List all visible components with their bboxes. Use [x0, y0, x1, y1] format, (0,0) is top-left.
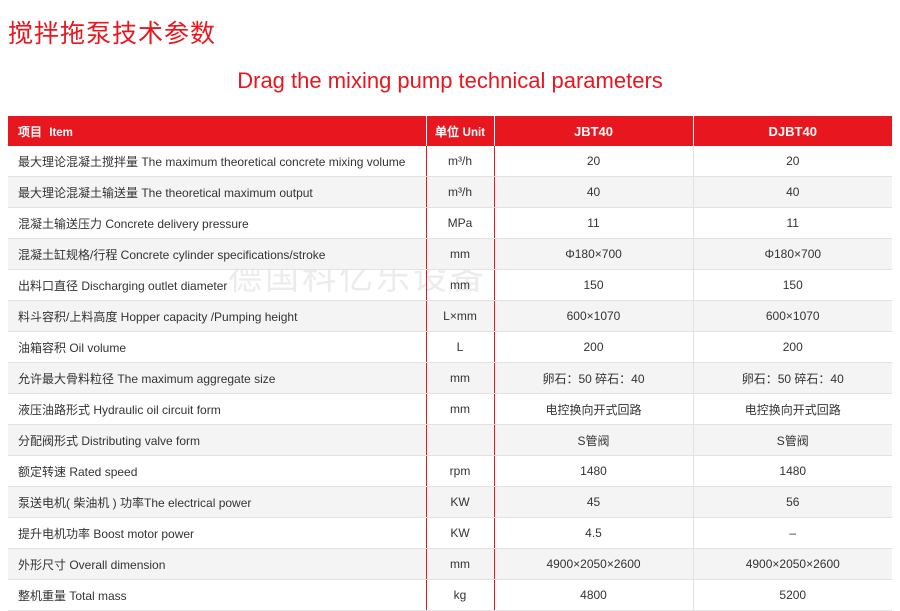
table-row: 料斗容积/上料高度 Hopper capacity /Pumping heigh…	[8, 301, 892, 332]
column-header-item: 项目 Item	[8, 116, 426, 146]
page-title-english: Drag the mixing pump technical parameter…	[0, 68, 900, 94]
row-item-label: 液压油路形式 Hydraulic oil circuit form	[8, 394, 426, 425]
row-unit: mm	[426, 394, 494, 425]
row-value-jbt40: 600×1070	[494, 301, 693, 332]
table-row: 混凝土输送压力 Concrete delivery pressure MPa 1…	[8, 208, 892, 239]
row-value-jbt40: S管阀	[494, 425, 693, 456]
row-unit: mm	[426, 363, 494, 394]
column-header-djbt40: DJBT40	[693, 116, 892, 146]
row-value-djbt40: 11	[693, 208, 892, 239]
table-row: 提升电机功率 Boost motor power KW 4.5 –	[8, 518, 892, 549]
row-unit: L	[426, 332, 494, 363]
row-value-djbt40: 40	[693, 177, 892, 208]
specifications-table: 项目 Item 单位 Unit JBT40 DJBT40 最大理论混凝土搅拌量 …	[8, 116, 892, 611]
row-value-jbt40: 11	[494, 208, 693, 239]
row-value-jbt40: 4900×2050×2600	[494, 549, 693, 580]
table-row: 最大理论混凝土搅拌量 The maximum theoretical concr…	[8, 146, 892, 177]
row-item-label: 泵送电机( 柴油机 ) 功率The electrical power	[8, 487, 426, 518]
row-value-djbt40: 卵石：50 碎石：40	[693, 363, 892, 394]
column-header-unit-en: Unit	[463, 127, 485, 139]
row-value-djbt40: 20	[693, 146, 892, 177]
row-value-djbt40: 56	[693, 487, 892, 518]
row-item-label: 额定转速 Rated speed	[8, 456, 426, 487]
row-value-jbt40: 45	[494, 487, 693, 518]
row-item-label: 外形尺寸 Overall dimension	[8, 549, 426, 580]
page-title-chinese: 搅拌拖泵技术参数	[8, 14, 216, 50]
column-header-item-cn: 项目	[18, 125, 42, 139]
row-value-djbt40: S管阀	[693, 425, 892, 456]
table-row: 分配阀形式 Distributing valve form S管阀 S管阀	[8, 425, 892, 456]
column-header-unit: 单位 Unit	[426, 116, 494, 146]
column-header-item-en: Item	[49, 127, 73, 139]
row-unit: KW	[426, 487, 494, 518]
row-item-label: 提升电机功率 Boost motor power	[8, 518, 426, 549]
row-value-jbt40: 150	[494, 270, 693, 301]
row-unit: mm	[426, 239, 494, 270]
table-row: 允许最大骨料粒径 The maximum aggregate size mm 卵…	[8, 363, 892, 394]
row-value-djbt40: 600×1070	[693, 301, 892, 332]
row-unit: KW	[426, 518, 494, 549]
row-item-label: 油箱容积 Oil volume	[8, 332, 426, 363]
row-item-label: 允许最大骨料粒径 The maximum aggregate size	[8, 363, 426, 394]
row-unit: mm	[426, 549, 494, 580]
row-item-label: 混凝土缸规格/行程 Concrete cylinder specificatio…	[8, 239, 426, 270]
table-row: 液压油路形式 Hydraulic oil circuit form mm 电控换…	[8, 394, 892, 425]
row-value-jbt40: 1480	[494, 456, 693, 487]
row-value-djbt40: –	[693, 518, 892, 549]
row-value-jbt40: 4.5	[494, 518, 693, 549]
row-value-jbt40: 4800	[494, 580, 693, 611]
row-unit: m³/h	[426, 177, 494, 208]
row-value-djbt40: 电控换向开式回路	[693, 394, 892, 425]
row-item-label: 最大理论混凝土输送量 The theoretical maximum outpu…	[8, 177, 426, 208]
row-item-label: 最大理论混凝土搅拌量 The maximum theoretical concr…	[8, 146, 426, 177]
column-header-jbt40: JBT40	[494, 116, 693, 146]
row-item-label: 整机重量 Total mass	[8, 580, 426, 611]
row-item-label: 出料口直径 Discharging outlet diameter	[8, 270, 426, 301]
column-header-unit-cn: 单位	[435, 125, 459, 139]
row-value-jbt40: 40	[494, 177, 693, 208]
row-value-djbt40: 150	[693, 270, 892, 301]
row-value-jbt40: 20	[494, 146, 693, 177]
table-header: 项目 Item 单位 Unit JBT40 DJBT40	[8, 116, 892, 146]
row-item-label: 混凝土输送压力 Concrete delivery pressure	[8, 208, 426, 239]
row-unit: rpm	[426, 456, 494, 487]
row-item-label: 分配阀形式 Distributing valve form	[8, 425, 426, 456]
table-row: 整机重量 Total mass kg 4800 5200	[8, 580, 892, 611]
row-value-jbt40: 电控换向开式回路	[494, 394, 693, 425]
table-row: 额定转速 Rated speed rpm 1480 1480	[8, 456, 892, 487]
row-unit: kg	[426, 580, 494, 611]
row-item-label: 料斗容积/上料高度 Hopper capacity /Pumping heigh…	[8, 301, 426, 332]
row-unit: L×mm	[426, 301, 494, 332]
table-row: 泵送电机( 柴油机 ) 功率The electrical power KW 45…	[8, 487, 892, 518]
row-value-djbt40: 4900×2050×2600	[693, 549, 892, 580]
row-unit: MPa	[426, 208, 494, 239]
row-value-jbt40: 卵石：50 碎石：40	[494, 363, 693, 394]
row-value-djbt40: Φ180×700	[693, 239, 892, 270]
row-value-djbt40: 1480	[693, 456, 892, 487]
table-row: 混凝土缸规格/行程 Concrete cylinder specificatio…	[8, 239, 892, 270]
row-value-djbt40: 5200	[693, 580, 892, 611]
table-row: 油箱容积 Oil volume L 200 200	[8, 332, 892, 363]
row-value-jbt40: Φ180×700	[494, 239, 693, 270]
row-unit: m³/h	[426, 146, 494, 177]
table-row: 最大理论混凝土输送量 The theoretical maximum outpu…	[8, 177, 892, 208]
row-unit: mm	[426, 270, 494, 301]
table-row: 出料口直径 Discharging outlet diameter mm 150…	[8, 270, 892, 301]
table-row: 外形尺寸 Overall dimension mm 4900×2050×2600…	[8, 549, 892, 580]
table-header-row: 项目 Item 单位 Unit JBT40 DJBT40	[8, 116, 892, 146]
table-body: 最大理论混凝土搅拌量 The maximum theoretical concr…	[8, 146, 892, 611]
row-unit	[426, 425, 494, 456]
row-value-jbt40: 200	[494, 332, 693, 363]
row-value-djbt40: 200	[693, 332, 892, 363]
